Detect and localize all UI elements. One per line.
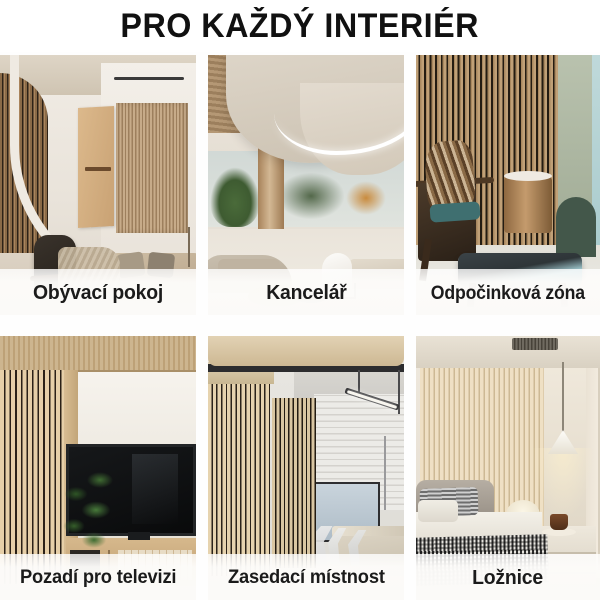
caption-band-tv-background: Pozadí pro televizi (0, 554, 196, 600)
interior-gallery-grid: Obývací pokoj (0, 55, 600, 600)
caption-band-living-room: Obývací pokoj (0, 269, 196, 315)
gallery-item-tv-background[interactable]: Pozadí pro televizi (0, 336, 196, 600)
caption-meeting-room: Zasedací místnost (228, 566, 385, 588)
caption-bedroom: Ložnice (473, 566, 544, 588)
caption-tv-background: Pozadí pro televizi (20, 566, 176, 588)
gallery-item-living-room[interactable]: Obývací pokoj (0, 55, 196, 315)
caption-band-meeting-room: Zasedací místnost (208, 554, 404, 600)
caption-band-bedroom: Ložnice (416, 554, 600, 600)
caption-living-room: Obývací pokoj (33, 281, 163, 303)
caption-relax-zone: Odpočinková zóna (431, 282, 585, 303)
page-title-bar: PRO KAŽDÝ INTERIÉR (0, 0, 600, 52)
promo-gallery-page: PRO KAŽDÝ INTERIÉR (0, 0, 600, 600)
gallery-item-meeting-room[interactable]: Zasedací místnost (208, 336, 404, 600)
page-title: PRO KAŽDÝ INTERIÉR (121, 7, 479, 46)
caption-office: Kancelář (266, 281, 346, 303)
gallery-item-relax-zone[interactable]: Odpočinková zóna (416, 55, 600, 315)
gallery-item-bedroom[interactable]: Ložnice (416, 336, 600, 600)
caption-band-office: Kancelář (208, 269, 404, 315)
caption-band-relax-zone: Odpočinková zóna (416, 269, 600, 315)
gallery-item-office[interactable]: Kancelář (208, 55, 404, 315)
